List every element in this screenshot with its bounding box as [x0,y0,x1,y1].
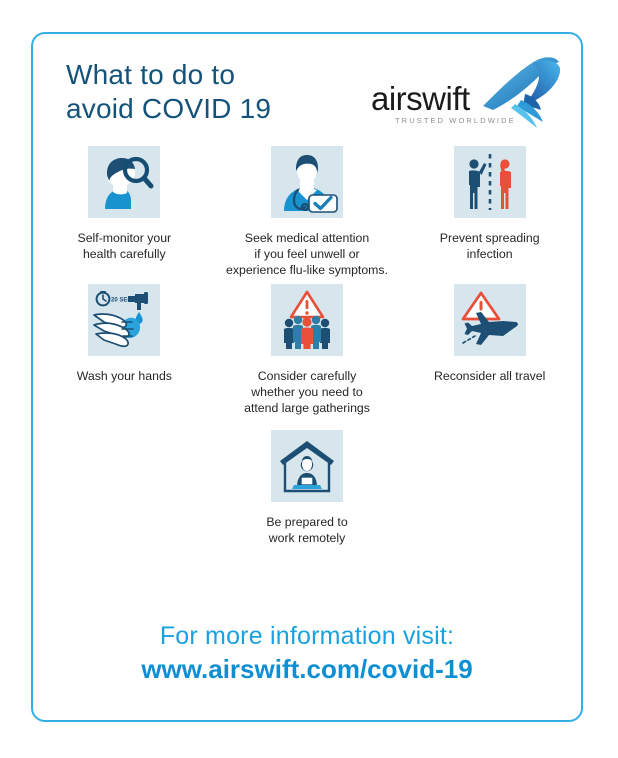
airswift-logo: airswift TRUSTED WORLDWIDE [369,58,559,138]
advice-item-travel: Reconsider all travel [398,284,581,416]
swift-bird-icon [475,54,561,134]
wash-hands-icon: 20 SEC [92,289,156,351]
advice-item-seek-medical: Seek medical attention if you feel unwel… [216,146,399,278]
advice-item-work-remotely: Be prepared to work remotely [216,430,399,546]
advice-caption: Be prepared to work remotely [266,514,347,546]
advice-item-prevent-spreading: Prevent spreading infection [398,146,581,278]
logo-wordmark: airswift [371,82,470,115]
advice-item-gatherings: Consider carefully whether you need to a… [216,284,399,416]
advice-caption: Self-monitor your health carefully [78,230,172,262]
advice-item-wash-hands: 20 SEC Wash your hands [33,284,216,416]
self-monitor-tile [88,146,160,218]
advice-caption: Reconsider all travel [434,368,545,384]
crowd-warning-icon [276,289,338,351]
advice-caption: Wash your hands [77,368,172,384]
doctor-check-tile [271,146,343,218]
doctor-check-icon [276,151,338,213]
poster-footer: For more information visit: www.airswift… [33,620,581,686]
work-from-home-icon [276,435,338,497]
advice-item-self-monitor: Self-monitor your health carefully [33,146,216,278]
advice-caption: Prevent spreading infection [440,230,540,262]
social-distance-icon [459,151,521,213]
poster-header: What to do to avoid COVID 19 airswift TR… [33,34,581,144]
advice-row-1: Self-monitor your health carefully [33,146,581,278]
advice-grid: Self-monitor your health carefully [33,146,581,546]
poster-card: What to do to avoid COVID 19 airswift TR… [31,32,583,722]
advice-row-2: 20 SEC Wash your hands [33,284,581,416]
advice-caption: Seek medical attention if you feel unwel… [226,230,388,278]
airplane-warning-icon [459,289,521,351]
wash-hands-tile: 20 SEC [88,284,160,356]
airplane-warning-tile [454,284,526,356]
crowd-warning-tile [271,284,343,356]
footer-prompt: For more information visit: [33,620,581,652]
self-monitor-icon [93,151,155,213]
social-distance-tile [454,146,526,218]
advice-row-3: Be prepared to work remotely [33,430,581,546]
work-from-home-tile [271,430,343,502]
advice-caption: Consider carefully whether you need to a… [244,368,370,416]
footer-url[interactable]: www.airswift.com/covid-19 [33,652,581,686]
page-title: What to do to avoid COVID 19 [66,58,271,126]
